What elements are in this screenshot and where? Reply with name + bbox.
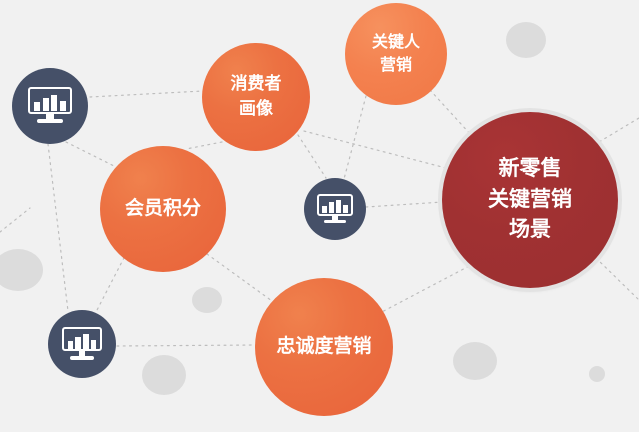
node-member-points[interactable]: 会员积分 [100,146,226,272]
decor-blob-4 [142,355,186,395]
node-icon-center[interactable] [304,178,366,240]
decor-blob-5 [453,342,497,380]
node-icon-bottom-left[interactable] [48,310,116,378]
node-key-person-marketing[interactable]: 关键人 营销 [345,3,447,105]
link-keyperson-hub [430,90,472,136]
link-member-iconbl [96,252,127,312]
link-icontopleft-consumer [90,91,203,97]
decor-blob-3 [192,287,222,313]
decor-blob-6 [589,366,605,382]
node-consumer-profile[interactable]: 消费者 画像 [202,43,310,151]
link-iconcenter-hub [366,202,443,207]
link-hub-edge-left-mid [300,130,446,168]
link-iconbl-loyalty [117,345,256,346]
node-key-person-marketing-label: 关键人 营销 [345,31,447,77]
link-consumer-iconcenter [298,135,326,178]
node-icon-top-left[interactable] [12,68,88,144]
diagram-canvas: 新零售 关键营销 场景 消费者 画像 关键人 营销 会员积分 忠诚度营销 [0,0,639,432]
node-loyalty-marketing-label: 忠诚度营销 [255,333,393,361]
node-member-points-label: 会员积分 [100,195,226,223]
link-hub-edge-right-bottom [596,258,639,300]
link-icontopleft-iconbl [48,144,68,311]
link-hub-edge-right-top [594,118,639,145]
link-consumer-member [186,142,222,149]
link-edge-left-lower [0,208,30,232]
monitor-chart-icon [28,87,72,125]
decor-blob-2 [506,22,546,58]
link-keyperson-iconcenter [344,96,366,179]
node-consumer-profile-label: 消费者 画像 [202,72,310,121]
node-hub-label: 新零售 关键营销 场景 [442,154,618,245]
node-hub-new-retail-marketing[interactable]: 新零售 关键营销 场景 [442,112,618,288]
link-loyalty-hub [378,264,473,314]
node-loyalty-marketing[interactable]: 忠诚度营销 [255,278,393,416]
monitor-chart-icon [317,194,353,225]
monitor-chart-icon [62,327,102,361]
